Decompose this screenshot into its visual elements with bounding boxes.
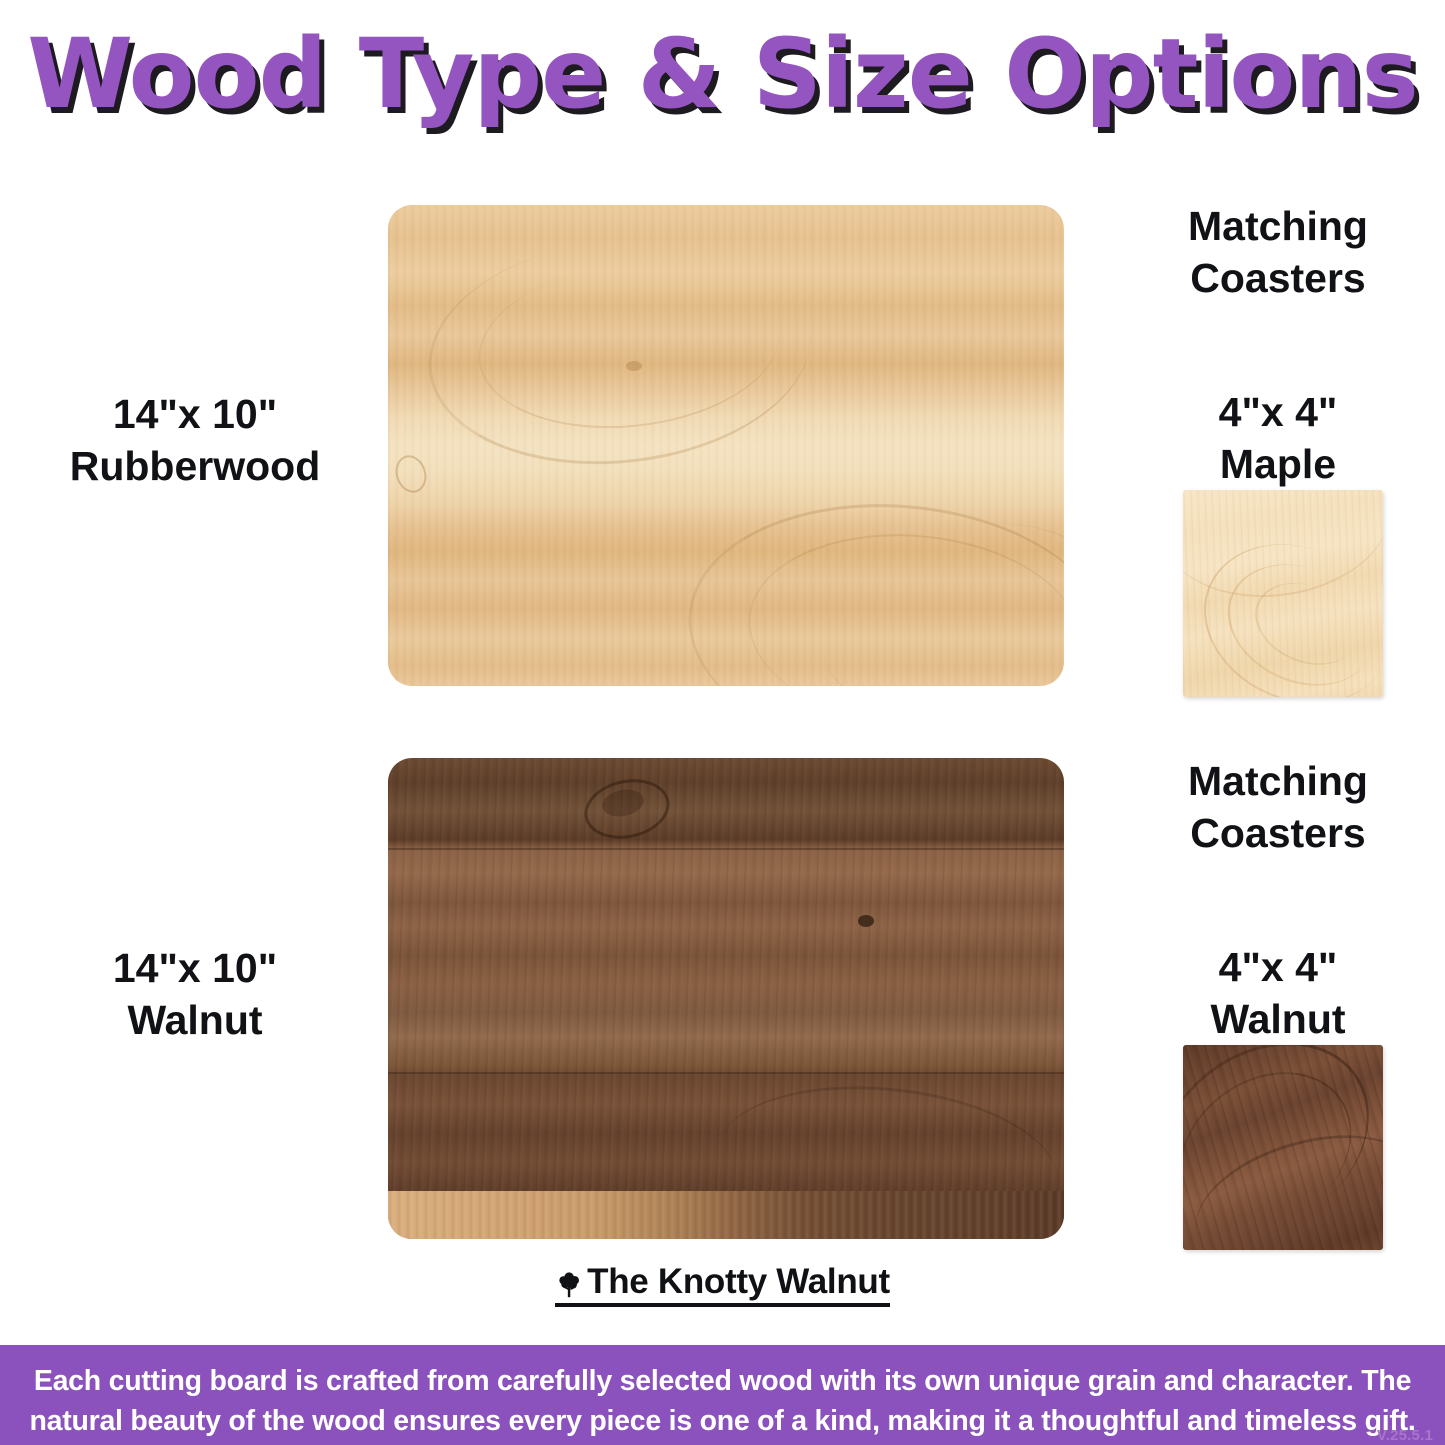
brand-logo: The Knotty Walnut: [0, 1262, 1445, 1307]
product-image-maple-coaster[interactable]: [1183, 490, 1383, 697]
label-matching-coasters-maple: Matching Coasters: [1128, 200, 1428, 305]
matching-text: Matching: [1128, 200, 1428, 252]
sapwood-strip: [388, 1191, 1064, 1239]
product-image-walnut-coaster[interactable]: [1183, 1045, 1383, 1250]
label-walnut-coaster: 4"x 4" Walnut: [1128, 941, 1428, 1046]
maple-size-text: 4"x 4": [1128, 386, 1428, 438]
plank-seam: [388, 1072, 1064, 1074]
brand-name-text: The Knotty Walnut: [587, 1262, 890, 1302]
walnut-coaster-size-text: 4"x 4": [1128, 941, 1428, 993]
label-matching-coasters-walnut: Matching Coasters: [1128, 755, 1428, 860]
rubberwood-size-text: 14"x 10": [30, 388, 360, 440]
footer-description-text: Each cutting board is crafted from caref…: [16, 1361, 1429, 1442]
maple-wood-text: Maple: [1128, 438, 1428, 490]
wood-knot: [626, 361, 642, 371]
walnut-board-wood-text: Walnut: [30, 994, 360, 1046]
label-walnut-board: 14"x 10" Walnut: [30, 942, 360, 1047]
walnut-coaster-wood-text: Walnut: [1128, 993, 1428, 1045]
wood-knot: [858, 915, 874, 927]
version-label: V.25.5.1: [1377, 1427, 1433, 1444]
product-image-walnut-board[interactable]: [388, 758, 1064, 1239]
wood-grain-arc: [417, 221, 821, 483]
tree-icon: [555, 1270, 585, 1300]
coasters-text: Coasters: [1128, 252, 1428, 304]
wood-grain-arc: [740, 521, 1064, 686]
page-title: Wood Type & Size Options: [0, 26, 1445, 124]
wood-knot: [391, 451, 431, 496]
label-maple-coaster: 4"x 4" Maple: [1128, 386, 1428, 491]
wood-grain-arc: [678, 487, 1064, 686]
rubberwood-wood-text: Rubberwood: [30, 440, 360, 492]
wood-grain-arc: [804, 500, 1064, 686]
label-rubberwood-board: 14"x 10" Rubberwood: [30, 388, 360, 493]
footer-banner: Each cutting board is crafted from caref…: [0, 1345, 1445, 1445]
coasters-text: Coasters: [1128, 807, 1428, 859]
wood-grain-arc: [470, 250, 787, 443]
matching-text: Matching: [1128, 755, 1428, 807]
product-image-rubberwood-board[interactable]: [388, 205, 1064, 686]
plank-seam: [388, 848, 1064, 850]
walnut-board-size-text: 14"x 10": [30, 942, 360, 994]
